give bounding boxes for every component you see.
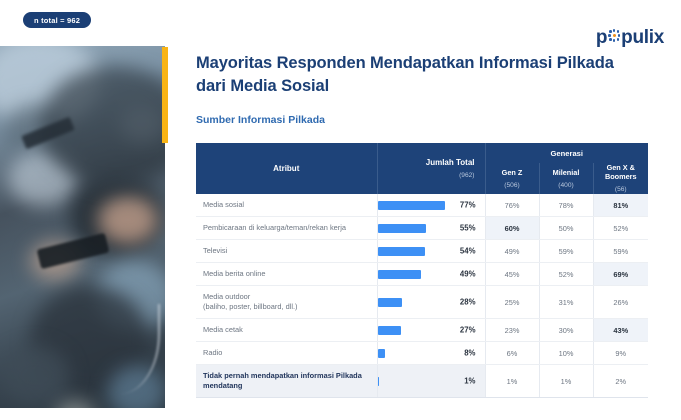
cell-jumlah-total: 1% — [377, 365, 485, 398]
bar-fill — [378, 377, 380, 386]
bar-fill — [378, 349, 385, 358]
column-header-generasi: Generasi — [485, 143, 648, 163]
cell-genx-boomers: 2% — [593, 365, 648, 398]
column-header-gen-z-count: (506) — [486, 182, 539, 190]
cell-jumlah-total: 8% — [377, 342, 485, 365]
bar-value-label: 77% — [460, 201, 476, 210]
column-header-genx-boomers-count: (56) — [594, 186, 649, 194]
cell-gen-z: 49% — [485, 240, 539, 263]
bar-value-label: 1% — [464, 377, 475, 386]
cell-gen-z: 1% — [485, 365, 539, 398]
cell-genx-boomers: 26% — [593, 286, 648, 319]
cell-atribut: Media sosial — [196, 194, 377, 216]
cell-jumlah-total: 27% — [377, 319, 485, 342]
cell-jumlah-total: 49% — [377, 263, 485, 286]
bar-value-label: 28% — [460, 298, 476, 307]
column-header-genx-boomers-label: Gen X & Boomers — [605, 163, 637, 181]
cell-genx-boomers: 69% — [593, 263, 648, 286]
cell-genx-boomers: 81% — [593, 194, 648, 216]
bar-fill — [378, 201, 446, 210]
cell-gen-z: 23% — [485, 319, 539, 342]
cell-atribut: Televisi — [196, 240, 377, 263]
table-row: Media sosial77%76%78%81% — [196, 194, 648, 216]
bar-value-label: 27% — [460, 326, 476, 335]
bar-track: 54% — [378, 242, 485, 260]
table-row: Media berita online49%45%52%69% — [196, 263, 648, 286]
cell-gen-z: 60% — [485, 217, 539, 240]
bar-track: 77% — [378, 196, 485, 214]
bar-value-label: 49% — [460, 270, 476, 279]
cell-milenial: 30% — [539, 319, 593, 342]
cell-jumlah-total: 28% — [377, 286, 485, 319]
bar-fill — [378, 224, 426, 233]
cell-milenial: 78% — [539, 194, 593, 216]
cell-gen-z: 6% — [485, 342, 539, 365]
cell-gen-z: 25% — [485, 286, 539, 319]
dotted-o-icon — [608, 29, 621, 42]
n-total-badge: n total = 962 — [23, 12, 91, 28]
cell-gen-z: 76% — [485, 194, 539, 216]
cell-milenial: 50% — [539, 217, 593, 240]
column-header-milenial-count: (400) — [540, 182, 593, 190]
populix-logo: p pulix — [596, 27, 664, 49]
column-header-jumlah-total-count: (962) — [378, 172, 475, 179]
bar-track: 1% — [378, 372, 485, 390]
cell-milenial: 1% — [539, 365, 593, 398]
cell-atribut: Media berita online — [196, 263, 377, 286]
column-header-jumlah-total-label: Jumlah Total — [426, 158, 475, 167]
bar-track: 49% — [378, 265, 485, 283]
cell-jumlah-total: 77% — [377, 194, 485, 216]
cell-genx-boomers: 9% — [593, 342, 648, 365]
bar-track: 55% — [378, 219, 485, 237]
cell-atribut: Radio — [196, 342, 377, 365]
slide-canvas: n total = 962 p pulix Mayori — [0, 0, 681, 420]
bar-fill — [378, 247, 426, 256]
column-header-atribut: Atribut — [196, 143, 377, 194]
cell-milenial: 52% — [539, 263, 593, 286]
cell-milenial: 59% — [539, 240, 593, 263]
page-title: Mayoritas Responden Mendapatkan Informas… — [196, 52, 616, 98]
table-body: Media sosial77%76%78%81%Pembicaraan di k… — [196, 194, 648, 397]
table-row: Media outdoor(baliho, poster, billboard,… — [196, 286, 648, 319]
cell-genx-boomers: 52% — [593, 217, 648, 240]
table-row: Pembicaraan di keluarga/teman/rekan kerj… — [196, 217, 648, 240]
column-header-gen-z-label: Gen Z — [502, 168, 523, 177]
bar-fill — [378, 270, 421, 279]
table-row: Media cetak27%23%30%43% — [196, 319, 648, 342]
bar-track: 27% — [378, 321, 485, 339]
table-row: Radio8%6%10%9% — [196, 342, 648, 365]
column-header-milenial: Milenial (400) — [539, 163, 593, 194]
bar-fill — [378, 326, 402, 335]
table-header-group-row: Atribut Jumlah Total (962) Generasi — [196, 143, 648, 163]
bar-fill — [378, 298, 403, 307]
cell-jumlah-total: 55% — [377, 217, 485, 240]
cell-milenial: 31% — [539, 286, 593, 319]
table-row: Televisi54%49%59%59% — [196, 240, 648, 263]
table-row: Tidak pernah mendapatkan informasi Pilka… — [196, 365, 648, 398]
cell-jumlah-total: 54% — [377, 240, 485, 263]
photo-color-overlay — [0, 46, 165, 408]
cell-genx-boomers: 43% — [593, 319, 648, 342]
column-header-milenial-label: Milenial — [553, 168, 580, 177]
bar-track: 8% — [378, 344, 485, 362]
bar-value-label: 54% — [460, 247, 476, 256]
cell-gen-z: 45% — [485, 263, 539, 286]
bar-value-label: 8% — [464, 349, 475, 358]
cell-milenial: 10% — [539, 342, 593, 365]
column-header-gen-z: Gen Z (506) — [485, 163, 539, 194]
cell-atribut: Tidak pernah mendapatkan informasi Pilka… — [196, 365, 377, 398]
logo-text-after: pulix — [621, 27, 664, 49]
cell-atribut: Media cetak — [196, 319, 377, 342]
page-subtitle: Sumber Informasi Pilkada — [196, 114, 325, 126]
column-header-jumlah-total: Jumlah Total (962) — [377, 143, 485, 194]
cell-atribut: Media outdoor(baliho, poster, billboard,… — [196, 286, 377, 319]
people-holding-smartphones-photo — [0, 46, 165, 408]
bar-track: 28% — [378, 293, 485, 311]
yellow-accent-bar — [162, 47, 168, 143]
bar-value-label: 55% — [460, 224, 476, 233]
table-header: Atribut Jumlah Total (962) Generasi Gen … — [196, 143, 648, 194]
logo-text-before: p — [596, 27, 607, 49]
cell-atribut: Pembicaraan di keluarga/teman/rekan kerj… — [196, 217, 377, 240]
survey-results-table: Atribut Jumlah Total (962) Generasi Gen … — [196, 143, 648, 398]
cell-genx-boomers: 59% — [593, 240, 648, 263]
column-header-genx-boomers: Gen X & Boomers (56) — [593, 163, 648, 194]
